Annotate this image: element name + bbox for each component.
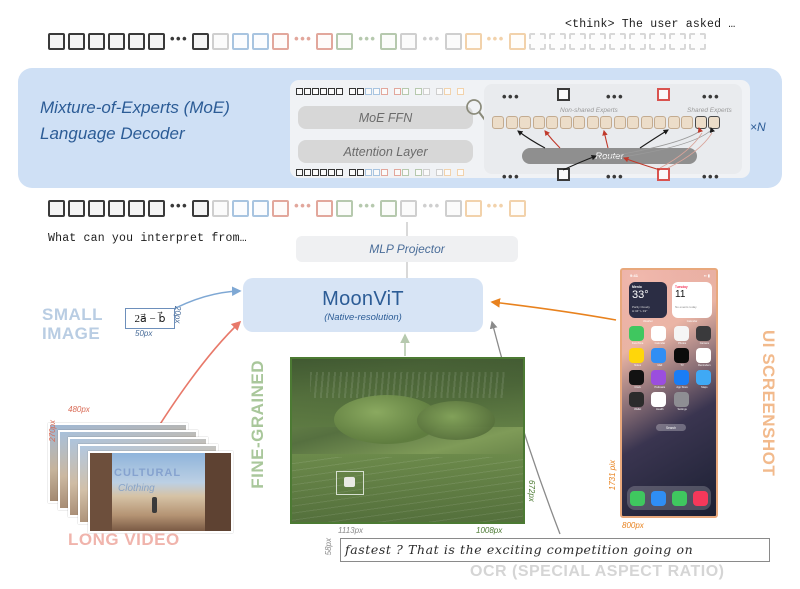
moe-ffn-block[interactable]: MoE FFN [298, 106, 473, 129]
mini-token-square [336, 169, 343, 176]
token-square [108, 33, 125, 50]
app-label: Clock [629, 386, 646, 389]
nonshared-experts-label: Non-shared Experts [560, 107, 618, 114]
nonshared-expert[interactable] [641, 116, 653, 129]
mini-token-square [415, 88, 422, 95]
app-icon[interactable] [651, 348, 666, 363]
phone-app[interactable]: Podcasts [651, 370, 668, 389]
token-square [629, 33, 646, 50]
token-square [689, 33, 706, 50]
token-square [128, 200, 145, 217]
mini-token-square [349, 169, 356, 176]
ocr-width-dim: 1113px [338, 526, 363, 535]
phone-app-grid: FaceTimeCalendarPhotosCameraNotesMailTVR… [629, 326, 713, 411]
ui-screenshot-width-dim: 800px [622, 521, 644, 530]
user-prompt-text: What can you interpret from… [48, 232, 247, 245]
moe-input-token-strip [296, 88, 465, 95]
token-square [400, 33, 417, 50]
ui-screenshot-category-label: UI SCREENSHOT [758, 330, 778, 476]
moonvit-subtitle: (Native-resolution) [324, 312, 402, 323]
fine-grained-category-label: FINE-GRAINED [248, 360, 268, 489]
nonshared-expert[interactable] [654, 116, 666, 129]
nonshared-expert[interactable] [573, 116, 585, 129]
nonshared-expert[interactable] [546, 116, 558, 129]
phone-dock [627, 486, 711, 510]
app-icon[interactable] [629, 348, 644, 363]
small-image-formula: 2a⃗ − b⃗ [135, 312, 166, 325]
mini-token-square [423, 169, 430, 176]
token-square [48, 33, 65, 50]
phone-app[interactable]: TV [674, 348, 691, 367]
long-video-category-label: LONG VIDEO [68, 530, 180, 550]
phone-screenshot: 9:41 ▪▪ ▮ Menlo 33° Partly Cloudy H:34° … [620, 268, 718, 518]
token-square [316, 200, 333, 217]
app-icon[interactable] [629, 392, 644, 407]
token-ellipsis: ••• [358, 36, 376, 42]
fine-grained-height-dim: 672px [527, 480, 536, 502]
mini-token-square [312, 169, 319, 176]
token-square [48, 200, 65, 217]
mini-token-square [436, 169, 443, 176]
nonshared-expert[interactable] [600, 116, 612, 129]
ui-screenshot-height-dim: 1731 pix [608, 460, 617, 490]
token-square [232, 33, 249, 50]
token-square [380, 200, 397, 217]
token-square-top-red [657, 88, 670, 101]
token-square [148, 33, 165, 50]
mini-token-square [457, 88, 464, 95]
mini-token-square [304, 169, 311, 176]
mini-token-square [365, 169, 372, 176]
mini-token-square [423, 88, 430, 95]
phone-status-icons: ▪▪ ▮ [704, 273, 710, 278]
token-square [316, 33, 333, 50]
mini-token-square [402, 88, 409, 95]
mini-token-square [444, 169, 451, 176]
app-icon[interactable] [674, 326, 689, 341]
phone-app[interactable]: Reminders [696, 348, 713, 367]
app-icon[interactable] [651, 370, 666, 385]
moe-title-line2: Language Decoder [40, 121, 290, 147]
mini-token-square [336, 88, 343, 95]
small-image-height-dim: 20px [173, 306, 182, 323]
token-square [192, 33, 209, 50]
token-square [549, 33, 566, 50]
long-video-frame-stack: CULTURAL Clothing [48, 415, 238, 525]
token-square [465, 200, 482, 217]
mini-token-square [357, 169, 364, 176]
token-square [272, 200, 289, 217]
moonvit-title: MoonViT [322, 288, 404, 311]
token-square [509, 33, 526, 50]
small-image-thumbnail: 2a⃗ − b⃗ [125, 308, 175, 329]
router-block[interactable]: Router [522, 148, 697, 164]
phone-status-time: 9:41 [630, 273, 638, 278]
mini-token-square [357, 88, 364, 95]
calendar-note: No events today [675, 305, 709, 309]
calendar-widget-label: Calendar [672, 320, 712, 323]
app-icon[interactable] [696, 348, 711, 363]
token-square [108, 200, 125, 217]
small-image-category-label: SMALL IMAGE [42, 305, 132, 343]
token-square [212, 200, 229, 217]
nonshared-expert[interactable] [681, 116, 693, 129]
output-token-sequence: ••••••••••••••• [48, 33, 709, 50]
fine-grained-width-dim: 1008px [476, 526, 502, 535]
mini-token-square [328, 169, 335, 176]
small-image-label-line2: IMAGE [42, 324, 132, 343]
mini-token-square [320, 169, 327, 176]
token-square [669, 33, 686, 50]
long-video-height-dim: 270px [48, 420, 57, 442]
phone-app[interactable]: Wallet [629, 392, 646, 411]
token-ellipsis: ••• [487, 203, 505, 209]
app-icon[interactable] [629, 370, 644, 385]
app-icon[interactable] [651, 392, 666, 407]
mini-token-square [381, 169, 388, 176]
nonshared-expert[interactable] [533, 116, 545, 129]
app-label: Wallet [629, 408, 646, 411]
app-label: Health [651, 408, 668, 411]
token-square-bottom-black [557, 168, 570, 181]
phone-app[interactable]: Calendar [651, 326, 668, 345]
nonshared-expert[interactable] [587, 116, 599, 129]
app-label: Maps [696, 386, 713, 389]
moe-decoder-title: Mixture-of-Experts (MoE) Language Decode… [40, 95, 290, 147]
phone-app[interactable]: FaceTime [629, 326, 646, 345]
token-square-top-black [557, 88, 570, 101]
mini-token-square [349, 88, 356, 95]
nonshared-expert[interactable] [560, 116, 572, 129]
token-square [336, 33, 353, 50]
weather-temp: 33° [632, 289, 664, 301]
app-icon[interactable] [696, 370, 711, 385]
app-icon[interactable] [629, 326, 644, 341]
weather-hilo: H:34° L:19° [632, 309, 664, 313]
mini-token-square [444, 88, 451, 95]
token-square [445, 200, 462, 217]
app-label: Notes [629, 364, 646, 367]
token-square-bottom-red [657, 168, 670, 181]
token-square [649, 33, 666, 50]
app-icon[interactable] [674, 348, 689, 363]
moe-title-line1: Mixture-of-Experts (MoE) [40, 95, 290, 121]
ocr-handwriting-text: fastest ? That is the exciting competiti… [341, 539, 769, 561]
weather-widget-label: Weather [629, 320, 667, 323]
token-square [88, 200, 105, 217]
video-overlay-text-1: CULTURAL [114, 467, 181, 479]
token-square [465, 33, 482, 50]
dock-icon[interactable] [630, 491, 645, 506]
token-square [509, 200, 526, 217]
token-ellipsis: ••• [487, 36, 505, 42]
nonshared-expert[interactable] [492, 116, 504, 129]
app-icon[interactable] [674, 392, 689, 407]
expert-top-ellipsis-3: ••• [702, 94, 720, 100]
token-square [252, 33, 269, 50]
token-square [336, 200, 353, 217]
app-label: FaceTime [629, 342, 646, 345]
mini-token-square [296, 169, 303, 176]
mini-token-square [296, 88, 303, 95]
phone-app[interactable]: App Store [674, 370, 691, 389]
mini-token-square [312, 88, 319, 95]
mini-token-square [304, 88, 311, 95]
attention-layer-label: Attention Layer [343, 145, 427, 159]
mini-token-square [365, 88, 372, 95]
phone-app[interactable]: Health [651, 392, 668, 411]
mini-token-square [394, 169, 401, 176]
mini-token-square [394, 88, 401, 95]
think-output-text: <think> The user asked … [565, 18, 735, 31]
token-square [88, 33, 105, 50]
app-label: Podcasts [651, 386, 668, 389]
token-ellipsis: ••• [422, 203, 440, 209]
expert-bottom-ellipsis-1: ••• [502, 174, 520, 180]
app-label: Mail [651, 364, 668, 367]
small-image-label-line1: SMALL [42, 305, 132, 324]
ocr-category-label: OCR (SPECIAL ASPECT RATIO) [470, 563, 725, 581]
mini-token-square [320, 88, 327, 95]
app-icon[interactable] [674, 370, 689, 385]
app-label: App Store [674, 386, 691, 389]
app-icon[interactable] [651, 326, 666, 341]
token-square [589, 33, 606, 50]
calendar-day: 11 [675, 289, 709, 300]
shared-experts-label: Shared Experts [687, 107, 732, 114]
expert-bottom-ellipsis-2: ••• [606, 174, 624, 180]
expert-top-ellipsis-2: ••• [606, 94, 624, 100]
token-ellipsis: ••• [294, 203, 312, 209]
mini-token-square [328, 88, 335, 95]
app-label: Photos [674, 342, 691, 345]
app-label: Calendar [651, 342, 668, 345]
token-square [445, 33, 462, 50]
video-overlay-text-2: Clothing [118, 483, 155, 494]
nonshared-expert[interactable] [614, 116, 626, 129]
dock-icon[interactable] [651, 491, 666, 506]
phone-app[interactable]: Settings [674, 392, 691, 411]
app-label: Camera [696, 342, 713, 345]
phone-app[interactable]: Photos [674, 326, 691, 345]
attention-layer-block[interactable]: Attention Layer [298, 140, 473, 163]
app-icon[interactable] [696, 326, 711, 341]
token-square [380, 33, 397, 50]
long-video-width-dim: 480px [68, 405, 90, 414]
fine-grained-roi-box [336, 471, 364, 495]
token-square [400, 200, 417, 217]
mini-token-square [436, 88, 443, 95]
mini-token-square [381, 88, 388, 95]
shared-expert[interactable] [695, 116, 707, 129]
phone-app[interactable]: Clock [629, 370, 646, 389]
input-token-sequence: ••••••••••••••• [48, 200, 529, 217]
weather-widget[interactable]: Menlo 33° Partly Cloudy H:34° L:19° [629, 282, 667, 318]
token-square [148, 200, 165, 217]
mini-token-square [373, 88, 380, 95]
token-square [192, 200, 209, 217]
token-ellipsis: ••• [294, 36, 312, 42]
router-label: Router [595, 151, 624, 162]
nonshared-expert[interactable] [506, 116, 518, 129]
phone-search-pill[interactable]: Search [656, 424, 686, 431]
ocr-height-dim: 58px [324, 538, 333, 555]
phone-app[interactable]: Mail [651, 348, 668, 367]
expert-top-ellipsis-1: ••• [502, 94, 520, 100]
phone-app[interactable]: Maps [696, 370, 713, 389]
shared-expert[interactable] [708, 116, 720, 129]
expert-row [492, 116, 722, 129]
phone-search-label: Search [666, 426, 676, 430]
token-ellipsis: ••• [170, 203, 188, 209]
phone-app[interactable]: Camera [696, 326, 713, 345]
mini-token-square [457, 169, 464, 176]
mini-token-square [415, 169, 422, 176]
mlp-projector-block[interactable]: MLP Projector [296, 236, 518, 262]
token-square [68, 33, 85, 50]
moe-output-token-strip [296, 169, 465, 176]
token-square [569, 33, 586, 50]
token-square [529, 33, 546, 50]
token-square [252, 200, 269, 217]
token-square [212, 33, 229, 50]
phone-app[interactable]: Notes [629, 348, 646, 367]
ocr-handwriting-image: fastest ? That is the exciting competiti… [340, 538, 770, 562]
nonshared-expert[interactable] [519, 116, 531, 129]
token-square [272, 33, 289, 50]
fine-grained-photo [290, 357, 525, 524]
token-square [68, 200, 85, 217]
mini-token-square [373, 169, 380, 176]
token-square [609, 33, 626, 50]
app-label: TV [674, 364, 691, 367]
moe-ffn-label: MoE FFN [359, 111, 412, 125]
token-square [232, 200, 249, 217]
token-ellipsis: ••• [422, 36, 440, 42]
expert-bottom-ellipsis-3: ••• [702, 174, 720, 180]
small-image-width-dim: 50px [135, 329, 152, 338]
app-label: Reminders [696, 364, 713, 367]
token-square [128, 33, 145, 50]
nonshared-expert[interactable] [627, 116, 639, 129]
video-frame-front: CULTURAL Clothing [88, 451, 233, 533]
token-ellipsis: ••• [170, 36, 188, 42]
app-label: Settings [674, 408, 691, 411]
mini-token-square [402, 169, 409, 176]
dock-icon[interactable] [693, 491, 708, 506]
calendar-widget[interactable]: Tuesday 11 No events today [672, 282, 712, 318]
dock-icon[interactable] [672, 491, 687, 506]
mlp-projector-label: MLP Projector [369, 242, 445, 256]
nonshared-expert[interactable] [668, 116, 680, 129]
moonvit-encoder-block[interactable]: MoonViT (Native-resolution) [243, 278, 483, 332]
repeat-n-label: ×N [750, 120, 766, 134]
token-ellipsis: ••• [358, 203, 376, 209]
